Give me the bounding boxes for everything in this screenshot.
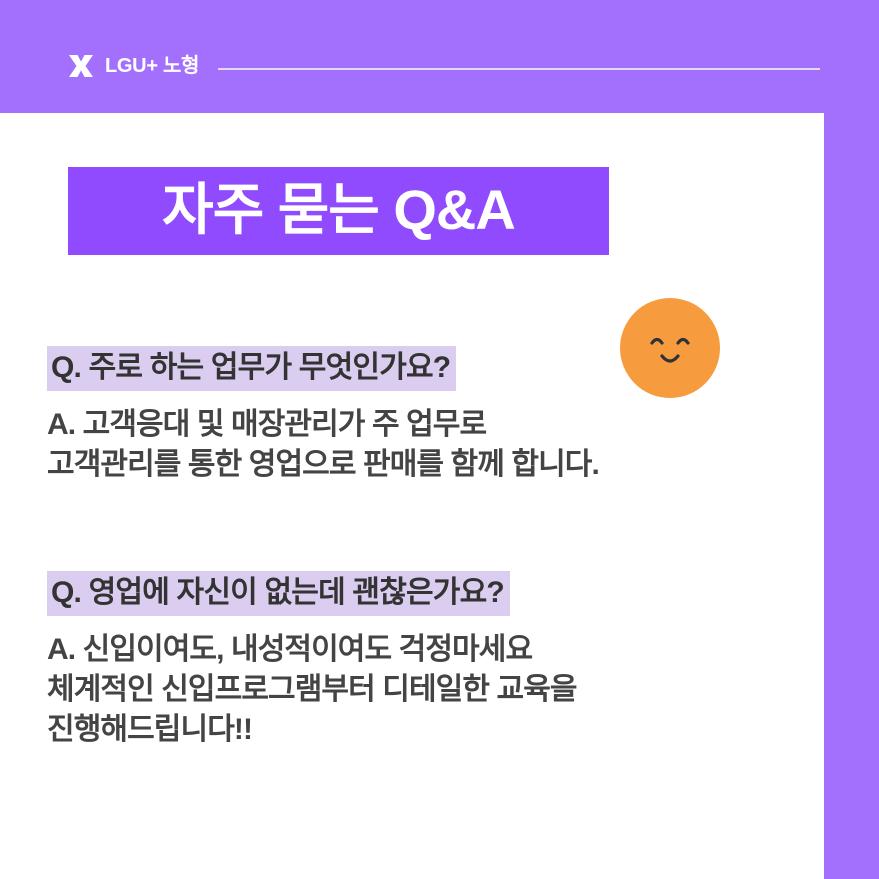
faq-item: Q. 영업에 자신이 없는데 괜찮은가요? A. 신입이여도, 내성적이여도 걱… [47, 571, 577, 750]
page-title: 자주 묻는 Q&A [162, 182, 515, 238]
header-divider [218, 68, 820, 70]
faq-answer-line: A. 신입이여도, 내성적이여도 걱정마세요 [47, 630, 577, 670]
smiley-face-icon [620, 298, 720, 398]
faq-item: Q. 주로 하는 업무가 무엇인가요? A. 고객응대 및 매장관리가 주 업무… [47, 346, 599, 485]
faq-answer-line: 진행해드립니다!! [47, 710, 577, 750]
brand-name: LGU+ 노형 [105, 56, 199, 76]
faq-answer-line: 고객관리를 통한 영업으로 판매를 함께 합니다. [47, 445, 599, 485]
content-panel: 자주 묻는 Q&A Q. 주로 하는 업무가 무엇인가요? A. 고객응대 및 … [0, 113, 824, 879]
lgu-x-mark-icon [68, 54, 94, 78]
faq-question: Q. 주로 하는 업무가 무엇인가요? [47, 346, 456, 391]
faq-answer-line: A. 고객응대 및 매장관리가 주 업무로 [47, 405, 599, 445]
faq-answer-line: 체계적인 신입프로그램부터 디테일한 교육을 [47, 670, 577, 710]
page-title-banner: 자주 묻는 Q&A [68, 167, 609, 255]
faq-card: LGU+ 노형 자주 묻는 Q&A Q. 주로 하는 업무가 무엇인가요? A.… [0, 0, 879, 879]
brand-lockup: LGU+ 노형 [68, 52, 199, 80]
faq-answer: A. 고객응대 및 매장관리가 주 업무로 고객관리를 통한 영업으로 판매를 … [47, 405, 599, 485]
faq-question: Q. 영업에 자신이 없는데 괜찮은가요? [47, 571, 510, 616]
page-header: LGU+ 노형 [0, 0, 879, 113]
faq-answer: A. 신입이여도, 내성적이여도 걱정마세요 체계적인 신입프로그램부터 디테일… [47, 630, 577, 750]
